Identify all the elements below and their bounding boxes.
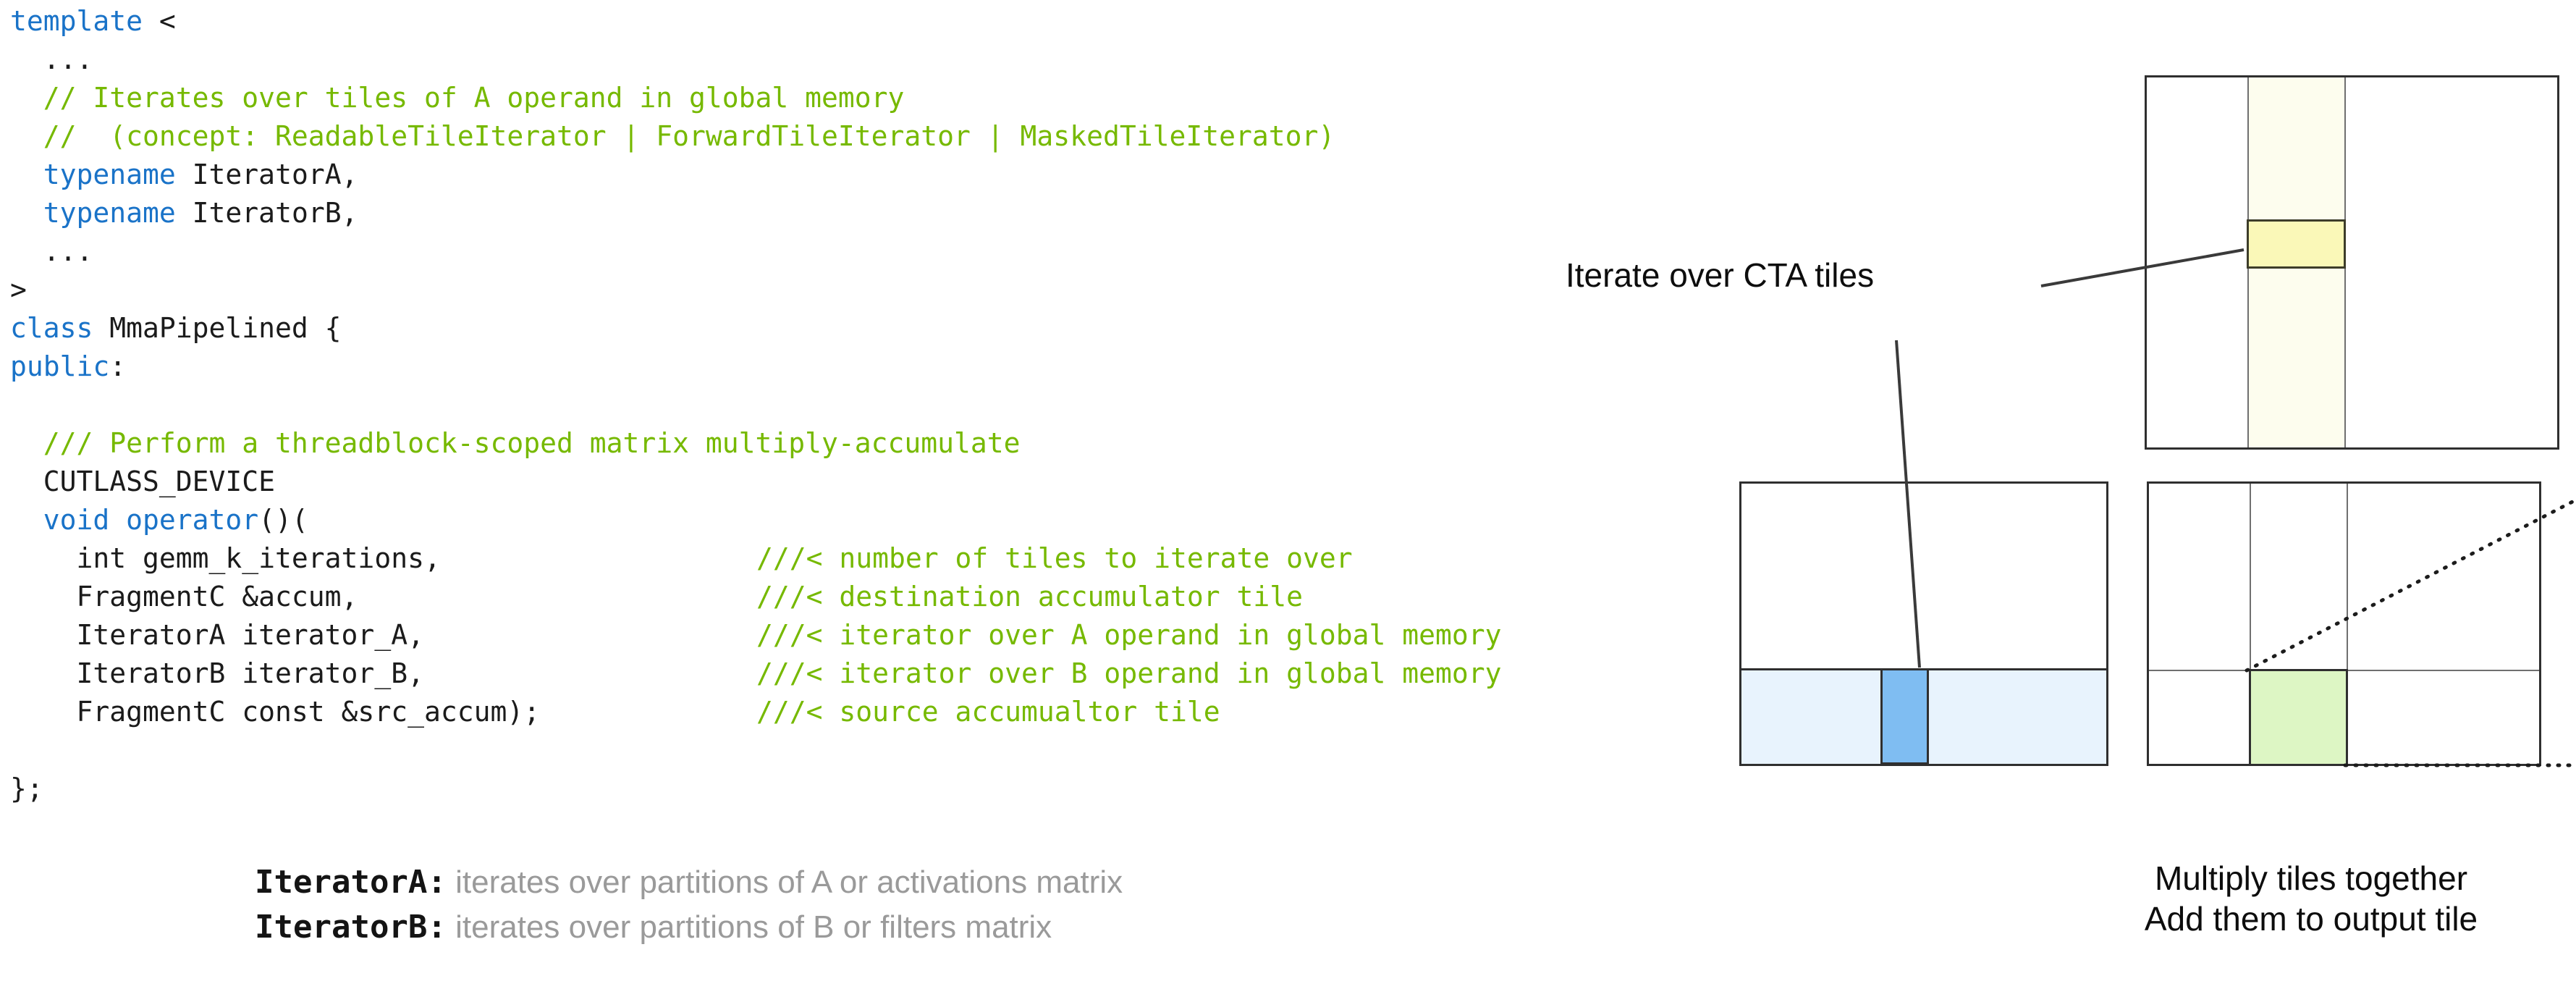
- code-token: MmaPipelined {: [93, 312, 341, 344]
- code-trailing-comment: ///< iterator over A operand in global m…: [756, 621, 1502, 649]
- code-line: /// Perform a threadblock-scoped matrix …: [10, 429, 1021, 457]
- code-trailing-comment: ///< iterator over B operand in global m…: [756, 660, 1502, 687]
- code-line: typename IteratorA,: [10, 161, 358, 188]
- iterator-legend: IteratorA: iterates over partitions of A…: [255, 860, 1413, 950]
- code-token: :: [109, 350, 126, 382]
- code-trailing-comment: ///< number of tiles to iterate over: [756, 544, 1353, 572]
- code-token: CUTLASS_DEVICE: [10, 466, 275, 497]
- code-token: // (concept: ReadableTileIterator | Forw…: [10, 120, 1335, 152]
- matrix-b-highlight-column: [2247, 77, 2345, 447]
- code-line: void operator()(: [10, 506, 308, 534]
- code-token: public: [10, 350, 109, 382]
- callout-multiply-line2: Add them to output tile: [2079, 898, 2543, 939]
- code-token: // Iterates over tiles of A operand in g…: [10, 82, 904, 114]
- matrix-b-box: [2145, 75, 2559, 450]
- matrix-b-grid-line-right: [2344, 77, 2346, 447]
- code-token: int gemm_k_iterations,: [10, 542, 441, 574]
- code-line: };: [10, 775, 43, 802]
- code-line: class MmaPipelined {: [10, 314, 342, 342]
- legend-row: IteratorA: iterates over partitions of A…: [255, 860, 1413, 905]
- code-line: >: [10, 276, 27, 303]
- projection-diagonal: [2247, 501, 2574, 670]
- code-line: FragmentC &accum,: [10, 583, 358, 610]
- matrix-c-grid-line-left: [2250, 484, 2251, 764]
- code-token: ...: [10, 43, 93, 75]
- leader-cta-tiles: [2041, 250, 2244, 286]
- matrix-c-grid-line-right: [2347, 484, 2348, 764]
- code-token: IteratorA,: [176, 159, 358, 190]
- code-token: class: [10, 312, 93, 344]
- legend-value: iterates over partitions of B or filters…: [447, 909, 1052, 945]
- code-line: int gemm_k_iterations,: [10, 544, 441, 572]
- code-line: ...: [10, 237, 93, 265]
- matrix-c-active-tile: [2249, 669, 2348, 766]
- code-line: CUTLASS_DEVICE: [10, 468, 275, 495]
- code-token: IteratorB iterator_B,: [10, 657, 424, 689]
- matrix-c-box: [2147, 481, 2541, 766]
- code-line: // Iterates over tiles of A operand in g…: [10, 84, 904, 111]
- code-trailing-comment: ///< source accumualtor tile: [756, 698, 1220, 725]
- matrix-b-active-tile: [2247, 219, 2346, 269]
- code-token: [10, 504, 43, 536]
- code-line: typename IteratorB,: [10, 199, 358, 227]
- legend-key: IteratorA:: [255, 864, 447, 901]
- code-token: typename: [43, 197, 176, 229]
- code-token: };: [10, 773, 43, 804]
- code-line: ...: [10, 46, 93, 73]
- code-line: IteratorB iterator_B,: [10, 660, 424, 687]
- code-token: [10, 159, 43, 190]
- code-listing: template < ... // Iterates over tiles of…: [0, 0, 1701, 825]
- matrix-b-grid-line-left: [2247, 77, 2249, 447]
- legend-row: IteratorB: iterates over partitions of B…: [255, 905, 1413, 950]
- code-token: /// Perform a threadblock-scoped matrix …: [10, 427, 1021, 459]
- matrix-c-grid-line-row: [2149, 670, 2539, 671]
- code-token: [10, 197, 43, 229]
- matrix-a-active-tile: [1880, 668, 1929, 765]
- code-line: FragmentC const &src_accum);: [10, 698, 540, 725]
- code-token: IteratorA iterator_A,: [10, 619, 424, 651]
- matrix-a-grid-line-row: [1741, 668, 2106, 670]
- code-token: ()(: [258, 504, 308, 536]
- code-token: FragmentC const &src_accum);: [10, 696, 540, 728]
- code-token: <: [143, 5, 176, 37]
- code-token: ...: [10, 235, 93, 267]
- code-token: >: [10, 274, 27, 306]
- leader-a-tile: [1896, 340, 1920, 668]
- code-token: template: [10, 5, 143, 37]
- code-line: // (concept: ReadableTileIterator | Forw…: [10, 122, 1335, 150]
- code-line: public:: [10, 353, 126, 380]
- code-token: void operator: [43, 504, 258, 536]
- code-token: FragmentC &accum,: [10, 581, 358, 613]
- legend-value: iterates over partitions of A or activat…: [447, 864, 1123, 900]
- code-line: IteratorA iterator_A,: [10, 621, 424, 649]
- code-line: template <: [10, 7, 176, 35]
- code-token: typename: [43, 159, 176, 190]
- code-trailing-comment: ///< destination accumulator tile: [756, 583, 1303, 610]
- matrix-a-box: [1739, 481, 2108, 766]
- legend-key: IteratorB:: [255, 909, 447, 946]
- matrix-a-highlight-row: [1741, 668, 2106, 764]
- callout-multiply-line1: Multiply tiles together: [2079, 858, 2543, 898]
- code-token: IteratorB,: [176, 197, 358, 229]
